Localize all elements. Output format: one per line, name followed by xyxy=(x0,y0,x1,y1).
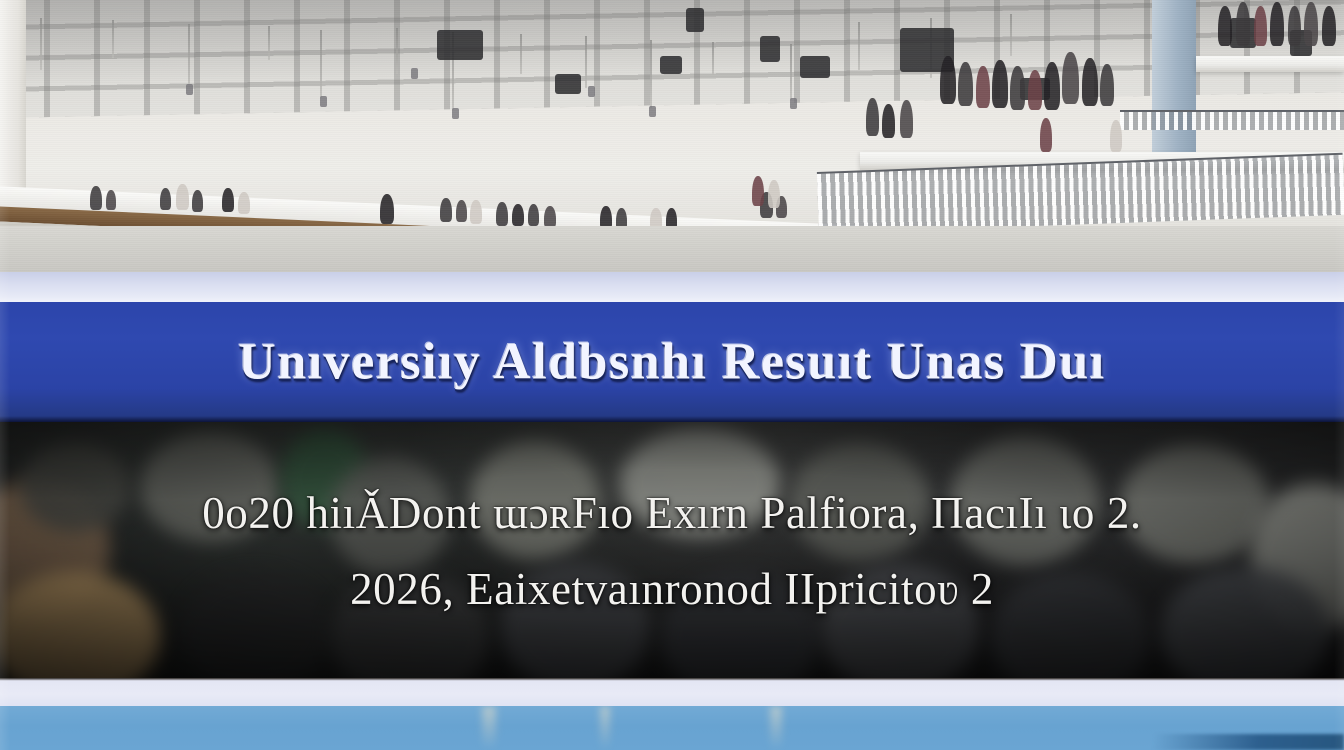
overlay-text-line-1: 0o20 hiıǍDont ɯɔʀFıo Exırn Palfiora, Πac… xyxy=(202,487,1142,539)
divider-lavender-top xyxy=(0,272,1344,302)
photo-grain xyxy=(0,0,1344,272)
dark-crowd-section: 0o20 hiıǍDont ɯɔʀFıo Exırn Palfiora, Πac… xyxy=(0,422,1344,680)
overlay-text-block: 0o20 hiıǍDont ɯɔʀFıo Exırn Palfiora, Πac… xyxy=(0,422,1344,680)
top-photo-interior-hall xyxy=(0,0,1344,272)
headline-band: Unıversiıy Aldbsnhı Resuıt Unas Duı xyxy=(0,302,1344,422)
right-edge-highlight xyxy=(1334,0,1344,750)
overlay-text-line-2: 2026, Eaixetvaınronod IIpricitoʋ 2 xyxy=(350,563,994,615)
bottom-blue-strip xyxy=(0,706,1344,750)
light-streak xyxy=(600,706,610,750)
banner-graphic: Unıversiıy Aldbsnhı Resuıt Unas Duı 0o20… xyxy=(0,0,1344,750)
headline-text: Unıversiıy Aldbsnhı Resuıt Unas Duı xyxy=(0,333,1344,392)
bottom-right-shadow xyxy=(1154,734,1344,750)
light-streak xyxy=(482,706,496,750)
divider-lavender-bottom xyxy=(0,678,1344,706)
light-streak xyxy=(770,706,782,750)
left-edge-highlight xyxy=(0,0,10,750)
